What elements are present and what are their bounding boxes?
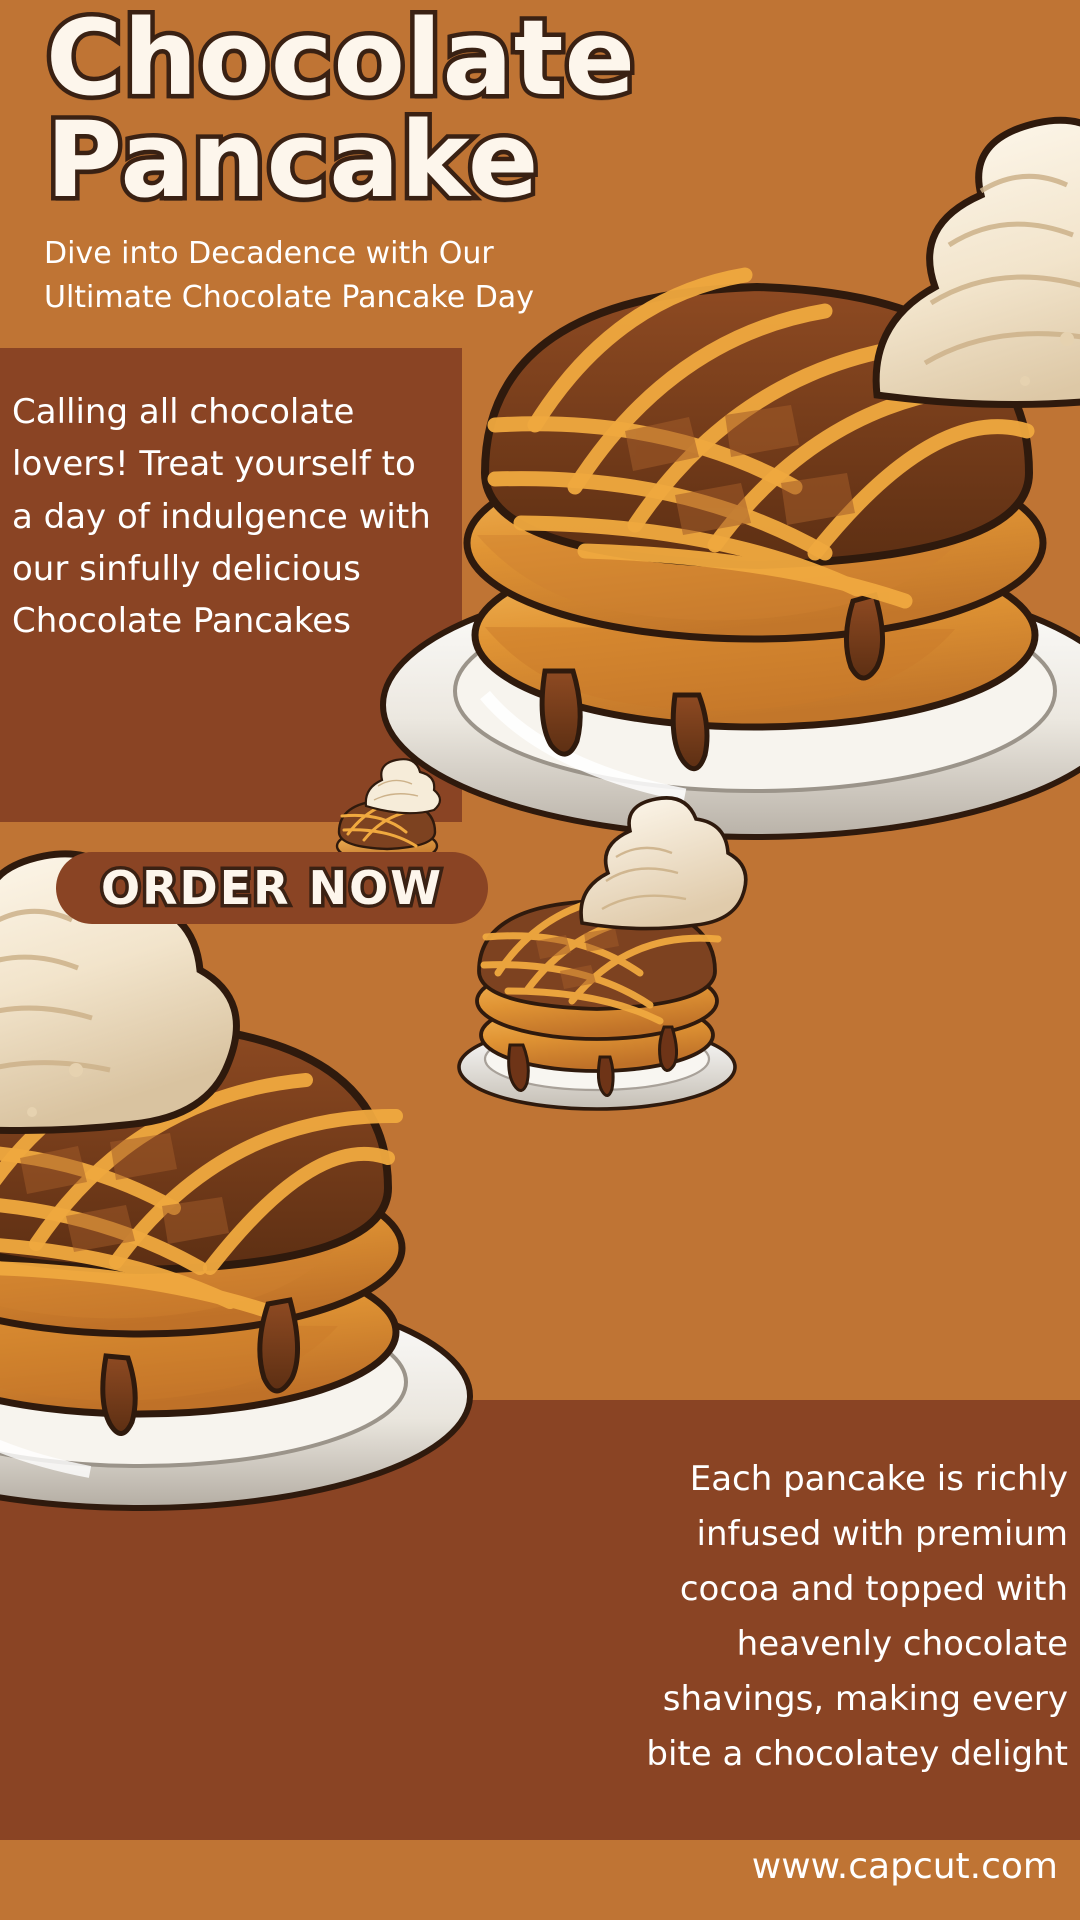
title-line-1: Chocolate xyxy=(46,8,746,110)
poster-canvas: Chocolate Pancake Dive into Decadence wi… xyxy=(0,0,1080,1920)
body-upper-line: lovers! Treat yourself to xyxy=(12,438,462,490)
chocolate-pancake-stack-large-bottom-left-illustration xyxy=(0,880,470,1500)
body-lower-line: bite a chocolatey delight xyxy=(428,1727,1068,1782)
body-lower-line: cocoa and topped with xyxy=(428,1562,1068,1617)
body-text-lower: Each pancake is richly infused with prem… xyxy=(428,1452,1068,1782)
body-upper-line: Chocolate Pancakes xyxy=(12,595,462,647)
subtitle-line-2: Ultimate Chocolate Pancake Day xyxy=(44,276,564,320)
body-lower-line: infused with premium xyxy=(428,1507,1068,1562)
title-line-2: Pancake xyxy=(46,110,746,212)
body-lower-line: Each pancake is richly xyxy=(428,1452,1068,1507)
body-text-upper: Calling all chocolate lovers! Treat your… xyxy=(12,386,462,648)
subtitle: Dive into Decadence with Our Ultimate Ch… xyxy=(44,232,564,321)
order-now-button[interactable]: ORDER NOW xyxy=(56,852,488,924)
page-title: Chocolate Pancake xyxy=(46,8,746,212)
body-lower-line: shavings, making every xyxy=(428,1672,1068,1727)
body-lower-line: heavenly chocolate xyxy=(428,1617,1068,1672)
body-upper-line: our sinfully delicious xyxy=(12,543,462,595)
body-upper-line: Calling all chocolate xyxy=(12,386,462,438)
footer-website-url[interactable]: www.capcut.com xyxy=(752,1846,1058,1887)
order-now-button-label: ORDER NOW xyxy=(101,861,443,915)
body-upper-line: a day of indulgence with xyxy=(12,491,462,543)
subtitle-line-1: Dive into Decadence with Our xyxy=(44,232,564,276)
